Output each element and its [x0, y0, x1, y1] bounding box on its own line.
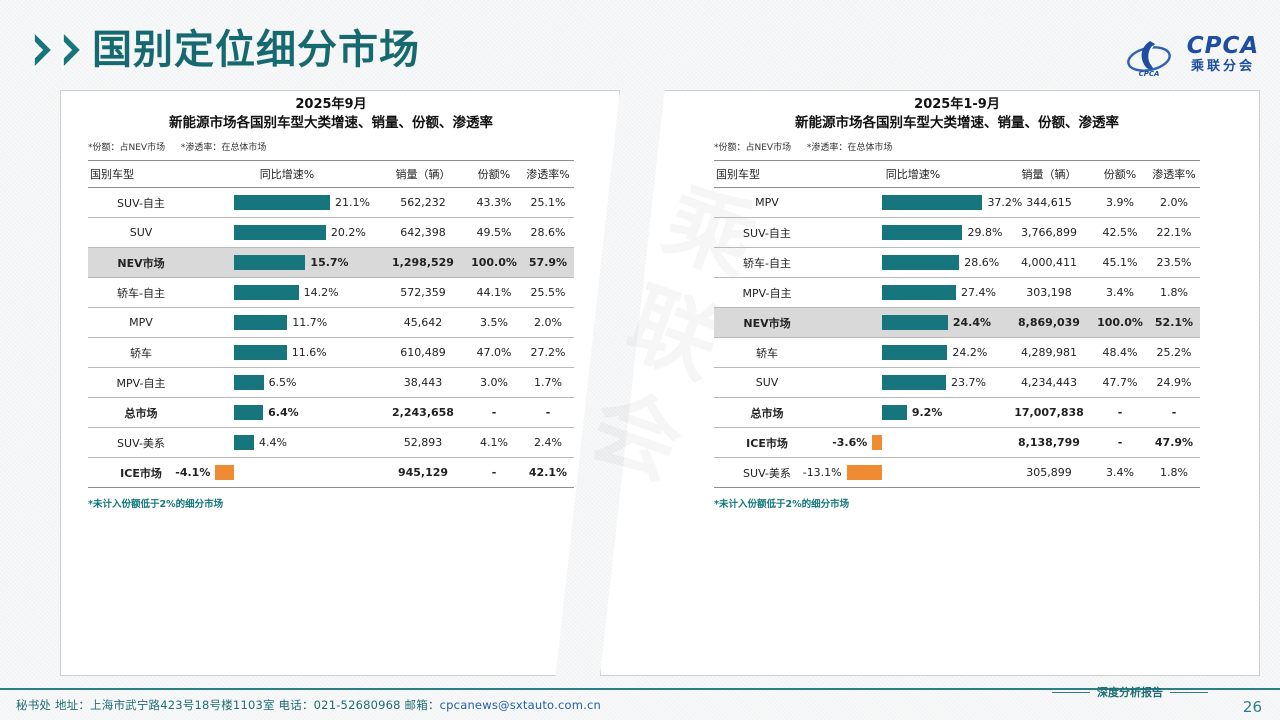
growth-bar-positive — [882, 195, 982, 210]
report-tag: 深度分析报告 — [1052, 684, 1208, 700]
cell-penetration: 42.1% — [522, 458, 574, 488]
right-table-title-main: 新能源市场各国别车型大类增速、销量、份额、渗透率 — [714, 114, 1200, 133]
growth-value-label: 20.2% — [331, 218, 366, 247]
table-row: 总市场9.2%17,007,838-- — [714, 398, 1200, 428]
growth-value-label: 11.6% — [292, 338, 327, 367]
growth-bar-positive — [234, 405, 263, 420]
col-header-growth: 同比增速% — [194, 161, 380, 188]
right-table-footnote: *未计入份额低于2%的细分市场 — [714, 496, 1200, 510]
growth-bar-positive — [882, 375, 946, 390]
cell-category: NEV市场 — [714, 308, 820, 338]
page-header: 国别定位细分市场 CPCA CPCA 乘联分会 — [0, 0, 1280, 92]
cell-growth-bar: 6.5% — [194, 368, 380, 398]
cell-growth-bar: 37.2% — [820, 188, 1006, 218]
cell-share: 3.4% — [1092, 458, 1148, 488]
cell-category: SUV — [88, 218, 194, 248]
growth-value-label: -3.6% — [832, 428, 867, 457]
growth-value-label: 9.2% — [912, 398, 943, 427]
table-row: ICE市场-3.6%8,138,799-47.9% — [714, 428, 1200, 458]
right-table-notes: *份额：占NEV市场 *渗透率：在总体市场 — [714, 142, 1200, 155]
cell-penetration: 1.8% — [1148, 278, 1200, 308]
growth-bar-positive — [234, 315, 287, 330]
table-row: MPV-自主27.4%303,1983.4%1.8% — [714, 278, 1200, 308]
table-row: NEV市场24.4%8,869,039100.0%52.1% — [714, 308, 1200, 338]
table-row: 轿车-自主28.6%4,000,41145.1%23.5% — [714, 248, 1200, 278]
col-header-penetration: 渗透率% — [1148, 161, 1200, 188]
table-row: SUV-自主29.8%3,766,89942.5%22.1% — [714, 218, 1200, 248]
cell-growth-bar: 9.2% — [820, 398, 1006, 428]
cell-growth-bar: -3.6% — [820, 428, 1006, 458]
table-row: 轿车24.2%4,289,98148.4%25.2% — [714, 338, 1200, 368]
table-row: ICE市场-4.1%945,129-42.1% — [88, 458, 574, 488]
cell-share: - — [466, 458, 522, 488]
growth-bar-negative — [872, 435, 882, 450]
left-table-title-main: 新能源市场各国别车型大类增速、销量、份额、渗透率 — [88, 114, 574, 133]
table-row: 总市场6.4%2,243,658-- — [88, 398, 574, 428]
growth-value-label: -4.1% — [175, 458, 210, 487]
cell-share: 44.1% — [466, 278, 522, 308]
cell-share: 100.0% — [1092, 308, 1148, 338]
cell-share: - — [1092, 398, 1148, 428]
report-tag-rule-right — [1170, 692, 1208, 693]
growth-bar-positive — [234, 345, 287, 360]
growth-bar-positive — [234, 285, 299, 300]
growth-value-label: 14.2% — [304, 278, 339, 307]
cell-penetration: 22.1% — [1148, 218, 1200, 248]
logo-chinese-name: 乘联分会 — [1177, 59, 1269, 75]
svg-text:CPCA: CPCA — [1139, 70, 1160, 78]
cell-share: - — [1092, 428, 1148, 458]
cell-category: MPV-自主 — [88, 368, 194, 398]
cell-volume: 4,289,981 — [1006, 338, 1092, 368]
cell-share: 3.4% — [1092, 278, 1148, 308]
table-row: NEV市场15.7%1,298,529100.0%57.9% — [88, 248, 574, 278]
cell-penetration: 23.5% — [1148, 248, 1200, 278]
growth-bar-positive — [234, 435, 254, 450]
growth-bar-negative — [215, 465, 234, 480]
table-row: SUV20.2%642,39849.5%28.6% — [88, 218, 574, 248]
right-table-title-period: 2025年1-9月 — [714, 96, 1200, 113]
growth-bar-positive — [234, 195, 330, 210]
left-data-table: 国别车型 同比增速% 销量（辆） 份额% 渗透率% SUV-自主21.1%562… — [88, 160, 574, 488]
table-row: SUV-自主21.1%562,23243.3%25.1% — [88, 188, 574, 218]
left-note-penetration: *渗透率：在总体市场 — [181, 143, 267, 153]
footer-contact-text: 秘书处 地址：上海市武宁路423号18号楼1103室 电话：021-526809… — [16, 698, 440, 712]
cell-category: NEV市场 — [88, 248, 194, 278]
table-header-row: 国别车型 同比增速% 销量（辆） 份额% 渗透率% — [88, 161, 574, 188]
cell-growth-bar: 20.2% — [194, 218, 380, 248]
col-header-category: 国别车型 — [88, 161, 194, 188]
cell-share: 45.1% — [1092, 248, 1148, 278]
double-chevron-right-icon — [32, 30, 87, 70]
table-row: SUV-美系4.4%52,8934.1%2.4% — [88, 428, 574, 458]
growth-value-label: 6.4% — [268, 398, 299, 427]
table-row: SUV23.7%4,234,44347.7%24.9% — [714, 368, 1200, 398]
cell-volume: 38,443 — [380, 368, 466, 398]
cell-share: 4.1% — [466, 428, 522, 458]
cell-growth-bar: 24.4% — [820, 308, 1006, 338]
cell-category: SUV-美系 — [88, 428, 194, 458]
cell-category: SUV-自主 — [88, 188, 194, 218]
left-table-block: 2025年9月 新能源市场各国别车型大类增速、销量、份额、渗透率 *份额：占NE… — [88, 96, 574, 510]
cell-share: 48.4% — [1092, 338, 1148, 368]
cell-volume: 642,398 — [380, 218, 466, 248]
left-note-share: *份额：占NEV市场 — [88, 143, 165, 153]
cell-volume: 45,642 — [380, 308, 466, 338]
cell-volume: 17,007,838 — [1006, 398, 1092, 428]
cell-volume: 3,766,899 — [1006, 218, 1092, 248]
cell-share: 100.0% — [466, 248, 522, 278]
cell-penetration: 28.6% — [522, 218, 574, 248]
cell-penetration: 47.9% — [1148, 428, 1200, 458]
cpca-emblem-icon: CPCA — [1126, 35, 1172, 79]
cell-volume: 562,232 — [380, 188, 466, 218]
cell-volume: 305,899 — [1006, 458, 1092, 488]
left-table-body: SUV-自主21.1%562,23243.3%25.1%SUV20.2%642,… — [88, 188, 574, 488]
cell-penetration: 2.0% — [522, 308, 574, 338]
cell-penetration: 25.5% — [522, 278, 574, 308]
cell-volume: 8,138,799 — [1006, 428, 1092, 458]
growth-value-label: 21.1% — [335, 188, 370, 217]
cell-share: 3.5% — [466, 308, 522, 338]
right-table-body: MPV37.2%344,6153.9%2.0%SUV-自主29.8%3,766,… — [714, 188, 1200, 488]
cell-penetration: 25.2% — [1148, 338, 1200, 368]
cell-volume: 945,129 — [380, 458, 466, 488]
cell-penetration: 2.4% — [522, 428, 574, 458]
cell-volume: 8,869,039 — [1006, 308, 1092, 338]
growth-bar-positive — [882, 315, 948, 330]
cell-share: 43.3% — [466, 188, 522, 218]
cell-volume: 4,234,443 — [1006, 368, 1092, 398]
cell-growth-bar: 29.8% — [820, 218, 1006, 248]
cell-category: MPV — [88, 308, 194, 338]
cell-share: 49.5% — [466, 218, 522, 248]
cell-growth-bar: -13.1% — [820, 458, 1006, 488]
report-tag-rule-left — [1052, 692, 1090, 693]
col-header-growth: 同比增速% — [820, 161, 1006, 188]
cell-volume: 572,359 — [380, 278, 466, 308]
growth-value-label: 4.4% — [259, 428, 287, 457]
right-note-penetration: *渗透率：在总体市场 — [807, 143, 893, 153]
cell-category: 轿车-自主 — [714, 248, 820, 278]
cell-share: 42.5% — [1092, 218, 1148, 248]
logo-acronym: CPCA — [1177, 34, 1269, 59]
cell-growth-bar: -4.1% — [194, 458, 380, 488]
growth-bar-positive — [882, 345, 947, 360]
footer-contact: 秘书处 地址：上海市武宁路423号18号楼1103室 电话：021-526809… — [16, 697, 601, 713]
growth-value-label: -13.1% — [803, 458, 842, 487]
cell-share: 3.9% — [1092, 188, 1148, 218]
growth-bar-positive — [234, 375, 264, 390]
cell-growth-bar: 14.2% — [194, 278, 380, 308]
right-note-share: *份额：占NEV市场 — [714, 143, 791, 153]
page-number: 26 — [1243, 698, 1262, 716]
left-table-title-period: 2025年9月 — [88, 96, 574, 113]
table-row: MPV37.2%344,6153.9%2.0% — [714, 188, 1200, 218]
cell-growth-bar: 15.7% — [194, 248, 380, 278]
cell-share: 47.7% — [1092, 368, 1148, 398]
right-data-table: 国别车型 同比增速% 销量（辆） 份额% 渗透率% MPV37.2%344,61… — [714, 160, 1200, 488]
growth-value-label: 15.7% — [310, 248, 348, 277]
col-header-category: 国别车型 — [714, 161, 820, 188]
cell-growth-bar: 23.7% — [820, 368, 1006, 398]
cell-growth-bar: 11.6% — [194, 338, 380, 368]
cell-volume: 52,893 — [380, 428, 466, 458]
growth-value-label: 29.8% — [967, 218, 1002, 247]
growth-bar-positive — [882, 285, 956, 300]
cell-penetration: 24.9% — [1148, 368, 1200, 398]
cell-penetration: - — [1148, 398, 1200, 428]
cell-category: 轿车 — [88, 338, 194, 368]
table-row: 轿车-自主14.2%572,35944.1%25.5% — [88, 278, 574, 308]
cell-growth-bar: 6.4% — [194, 398, 380, 428]
cpca-logo: CPCA CPCA 乘联分会 — [1126, 32, 1274, 82]
cell-volume: 2,243,658 — [380, 398, 466, 428]
cell-growth-bar: 24.2% — [820, 338, 1006, 368]
cell-penetration: 57.9% — [522, 248, 574, 278]
report-tag-label: 深度分析报告 — [1097, 684, 1163, 700]
growth-bar-positive — [882, 255, 959, 270]
cell-volume: 303,198 — [1006, 278, 1092, 308]
col-header-penetration: 渗透率% — [522, 161, 574, 188]
growth-bar-positive — [882, 405, 907, 420]
cell-category: 总市场 — [714, 398, 820, 428]
cell-penetration: 52.1% — [1148, 308, 1200, 338]
cell-share: 47.0% — [466, 338, 522, 368]
growth-value-label: 11.7% — [292, 308, 327, 337]
left-table-notes: *份额：占NEV市场 *渗透率：在总体市场 — [88, 142, 574, 155]
cell-penetration: 1.8% — [1148, 458, 1200, 488]
cell-category: SUV-自主 — [714, 218, 820, 248]
cell-volume: 610,489 — [380, 338, 466, 368]
cell-penetration: 2.0% — [1148, 188, 1200, 218]
table-row: 轿车11.6%610,48947.0%27.2% — [88, 338, 574, 368]
growth-value-label: 24.2% — [952, 338, 987, 367]
table-header-row: 国别车型 同比增速% 销量（辆） 份额% 渗透率% — [714, 161, 1200, 188]
cell-growth-bar: 21.1% — [194, 188, 380, 218]
footer-email[interactable]: cpcanews@sxtauto.com.cn — [440, 698, 601, 712]
col-header-share: 份额% — [1092, 161, 1148, 188]
table-row: MPV11.7%45,6423.5%2.0% — [88, 308, 574, 338]
cell-category: MPV — [714, 188, 820, 218]
growth-value-label: 24.4% — [953, 308, 991, 337]
growth-value-label: 37.2% — [987, 188, 1022, 217]
cell-penetration: - — [522, 398, 574, 428]
cell-growth-bar: 11.7% — [194, 308, 380, 338]
cell-share: 3.0% — [466, 368, 522, 398]
cell-growth-bar: 28.6% — [820, 248, 1006, 278]
right-table-block: 2025年1-9月 新能源市场各国别车型大类增速、销量、份额、渗透率 *份额：占… — [714, 96, 1200, 510]
cell-category: ICE市场 — [714, 428, 820, 458]
growth-bar-positive — [234, 255, 305, 270]
cell-category: SUV — [714, 368, 820, 398]
cell-share: - — [466, 398, 522, 428]
growth-value-label: 6.5% — [269, 368, 297, 397]
col-header-volume: 销量（辆） — [1006, 161, 1092, 188]
growth-value-label: 27.4% — [961, 278, 996, 307]
growth-value-label: 28.6% — [964, 248, 999, 277]
cell-penetration: 1.7% — [522, 368, 574, 398]
cell-category: 轿车 — [714, 338, 820, 368]
growth-bar-negative — [847, 465, 882, 480]
table-row: SUV-美系-13.1%305,8993.4%1.8% — [714, 458, 1200, 488]
growth-value-label: 23.7% — [951, 368, 986, 397]
cell-growth-bar: 4.4% — [194, 428, 380, 458]
table-row: MPV-自主6.5%38,4433.0%1.7% — [88, 368, 574, 398]
growth-bar-positive — [234, 225, 326, 240]
cell-category: MPV-自主 — [714, 278, 820, 308]
cell-penetration: 27.2% — [522, 338, 574, 368]
cell-category: 轿车-自主 — [88, 278, 194, 308]
page-title: 国别定位细分市场 — [92, 26, 420, 74]
cell-volume: 1,298,529 — [380, 248, 466, 278]
col-header-share: 份额% — [466, 161, 522, 188]
cell-volume: 4,000,411 — [1006, 248, 1092, 278]
cell-category: 总市场 — [88, 398, 194, 428]
cell-penetration: 25.1% — [522, 188, 574, 218]
left-table-footnote: *未计入份额低于2%的细分市场 — [88, 496, 574, 510]
growth-bar-positive — [882, 225, 962, 240]
col-header-volume: 销量（辆） — [380, 161, 466, 188]
cell-growth-bar: 27.4% — [820, 278, 1006, 308]
